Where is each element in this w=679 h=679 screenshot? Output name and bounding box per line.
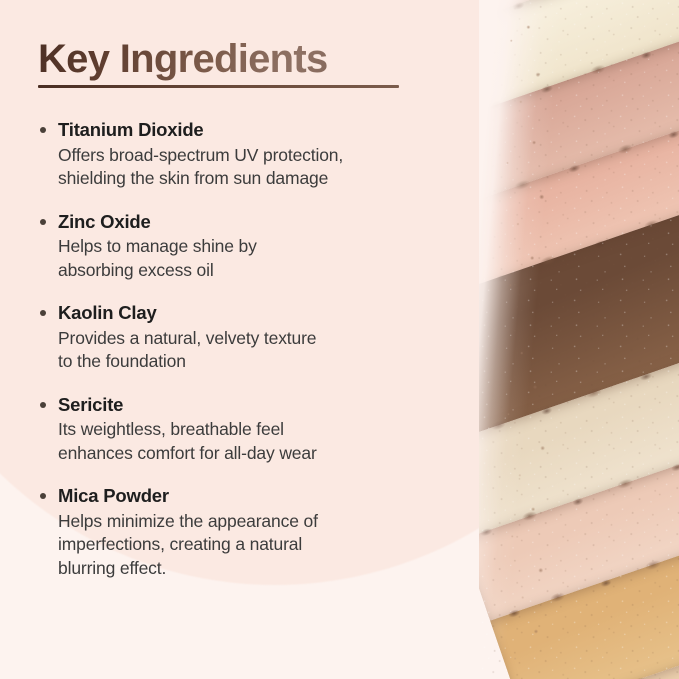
title-underline-rule xyxy=(38,85,399,88)
ingredients-list: Titanium Dioxide Offers broad-spectrum U… xyxy=(38,118,448,580)
text-column: Key Ingredients Titanium Dioxide Offers … xyxy=(0,0,470,679)
list-item: Sericite Its weightless, breathable feel… xyxy=(38,393,448,466)
powder-swatch-photo xyxy=(479,0,679,679)
bullet-icon xyxy=(40,219,46,225)
list-item: Mica Powder Helps minimize the appearanc… xyxy=(38,484,448,580)
bullet-icon xyxy=(40,127,46,133)
ingredient-name: Kaolin Clay xyxy=(58,301,448,326)
bullet-icon xyxy=(40,402,46,408)
ingredient-description: Helps minimize the appearance of imperfe… xyxy=(58,510,448,580)
ingredient-description: Provides a natural, velvety texture to t… xyxy=(58,327,448,374)
ingredient-name: Titanium Dioxide xyxy=(58,118,448,143)
bullet-icon xyxy=(40,310,46,316)
ingredient-description: Helps to manage shine by absorbing exces… xyxy=(58,235,448,282)
list-item: Zinc Oxide Helps to manage shine by abso… xyxy=(38,210,448,283)
page-title-block: Key Ingredients xyxy=(38,36,438,88)
list-item: Kaolin Clay Provides a natural, velvety … xyxy=(38,301,448,374)
ingredient-name: Mica Powder xyxy=(58,484,448,509)
ingredient-description: Offers broad-spectrum UV protection, shi… xyxy=(58,144,448,191)
bullet-icon xyxy=(40,493,46,499)
list-item: Titanium Dioxide Offers broad-spectrum U… xyxy=(38,118,448,191)
ingredient-name: Zinc Oxide xyxy=(58,210,448,235)
ingredients-infographic: Key Ingredients Titanium Dioxide Offers … xyxy=(0,0,679,679)
page-title: Key Ingredients xyxy=(38,36,438,83)
ingredient-name: Sericite xyxy=(58,393,448,418)
powder-band-stack xyxy=(479,0,679,679)
ingredient-description: Its weightless, breathable feel enhances… xyxy=(58,418,448,465)
